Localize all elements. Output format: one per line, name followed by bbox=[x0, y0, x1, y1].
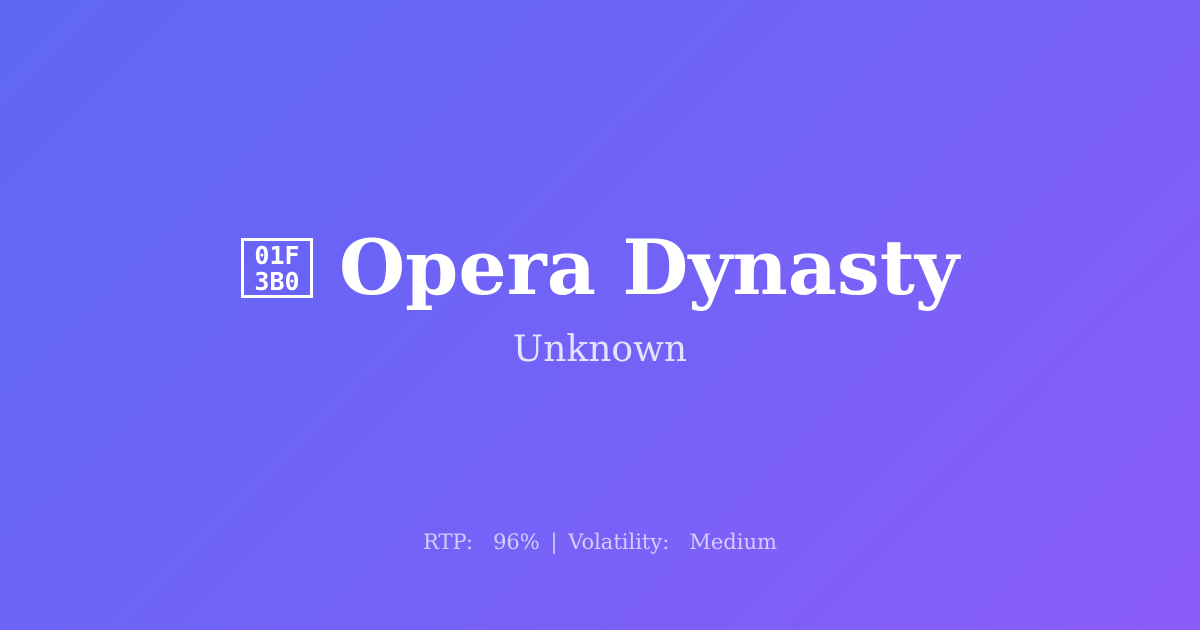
slot-machine-emoji-icon: 01F 3B0 bbox=[241, 238, 313, 298]
volatility-label: Volatility: bbox=[568, 530, 669, 554]
meta-line: RTP: 96% | Volatility: Medium bbox=[0, 528, 1200, 556]
page-subtitle: Unknown bbox=[513, 328, 687, 372]
og-card: 01F 3B0 Opera Dynasty Unknown RTP: 96% |… bbox=[0, 0, 1200, 630]
page-title: Opera Dynasty bbox=[339, 228, 959, 308]
meta-separator: | bbox=[546, 530, 561, 554]
volatility-value: Medium bbox=[689, 530, 777, 554]
tofu-codepoint-bottom: 3B0 bbox=[254, 269, 299, 295]
rtp-label: RTP: bbox=[423, 530, 473, 554]
title-row: 01F 3B0 Opera Dynasty bbox=[241, 228, 959, 308]
hero-block: 01F 3B0 Opera Dynasty Unknown bbox=[0, 228, 1200, 372]
tofu-codepoint-top: 01F bbox=[254, 243, 299, 269]
rtp-value: 96% bbox=[493, 530, 540, 554]
